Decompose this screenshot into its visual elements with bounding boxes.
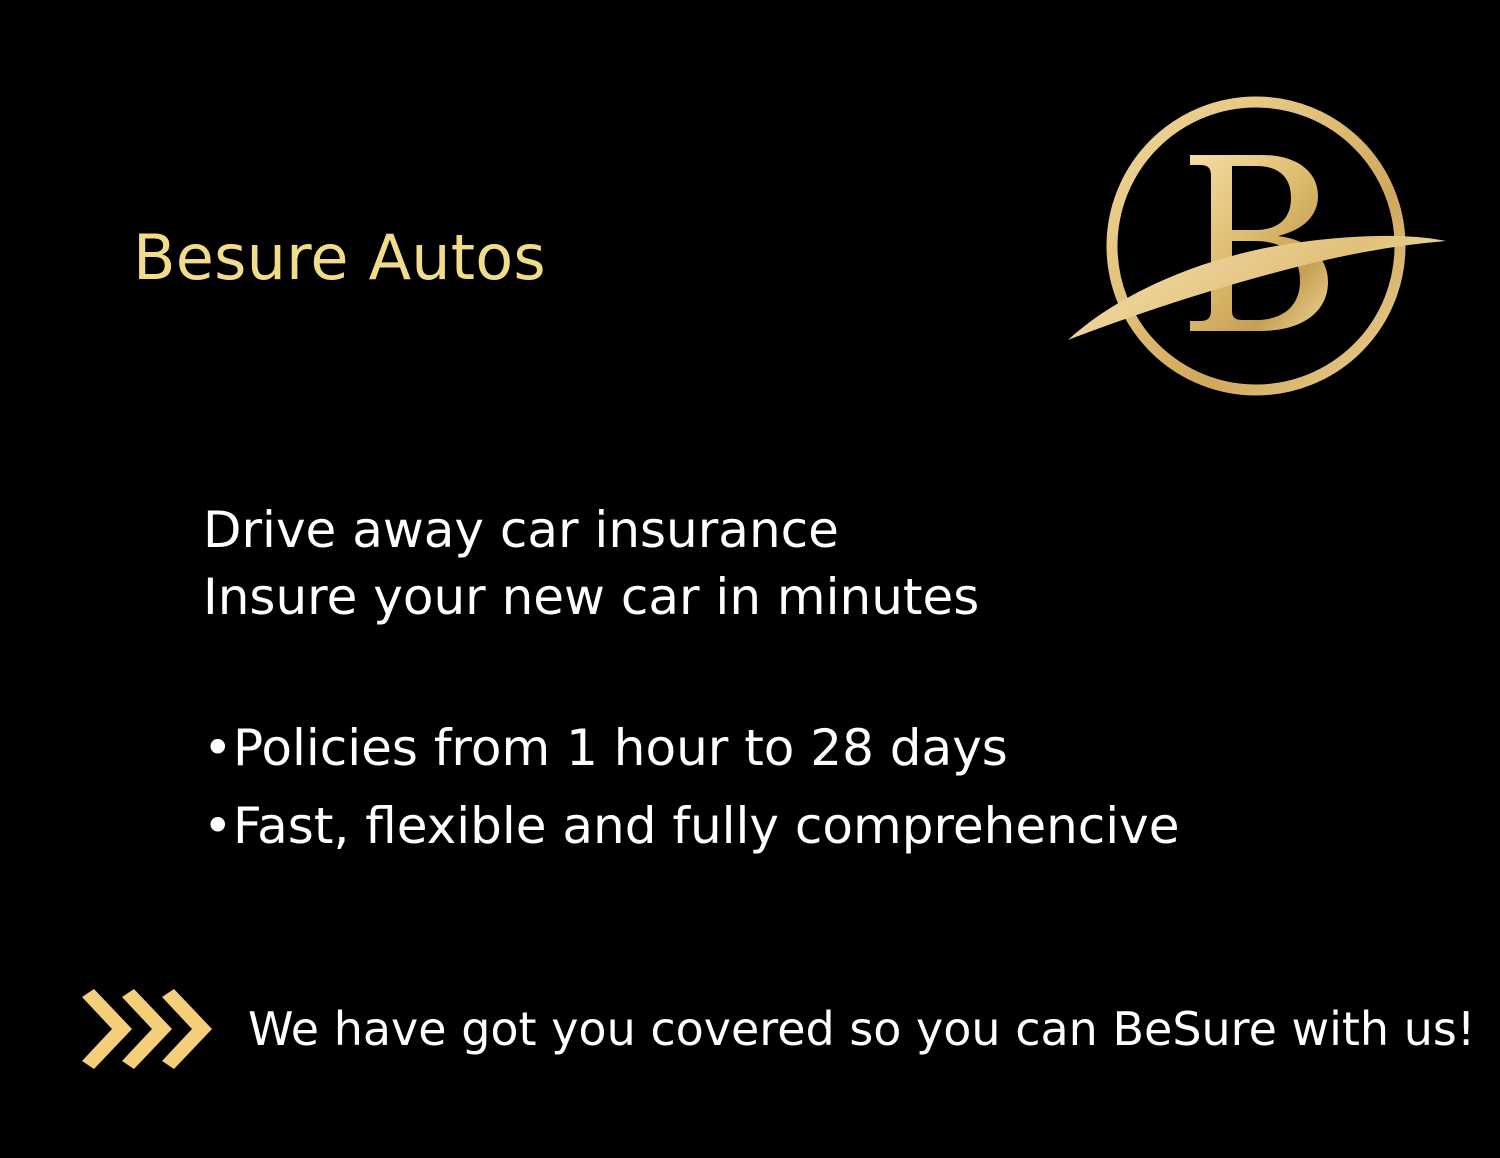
bullet-marker-icon: • xyxy=(203,793,233,861)
list-item: • Fast, flexible and fully comprehencive xyxy=(203,793,1403,861)
page-title: Besure Autos xyxy=(133,225,546,290)
slide-canvas: Besure Autos xyxy=(0,0,1500,1158)
footer-message: We have got you covered so you can BeSur… xyxy=(248,1006,1475,1052)
list-item: • Policies from 1 hour to 28 days xyxy=(203,715,1403,783)
lead-copy: Drive away car insurance Insure your new… xyxy=(203,497,1303,631)
besure-autos-logo xyxy=(1050,78,1460,418)
footer-callout: We have got you covered so you can BeSur… xyxy=(80,985,1475,1073)
feature-list: • Policies from 1 hour to 28 days • Fast… xyxy=(203,715,1403,870)
list-item-label: Policies from 1 hour to 28 days xyxy=(233,715,1008,783)
chevrons-right-icon xyxy=(80,989,212,1069)
lead-line-2: Insure your new car in minutes xyxy=(203,564,1303,631)
bullet-marker-icon: • xyxy=(203,715,233,783)
list-item-label: Fast, flexible and fully comprehencive xyxy=(233,793,1180,861)
lead-line-1: Drive away car insurance xyxy=(203,497,1303,564)
